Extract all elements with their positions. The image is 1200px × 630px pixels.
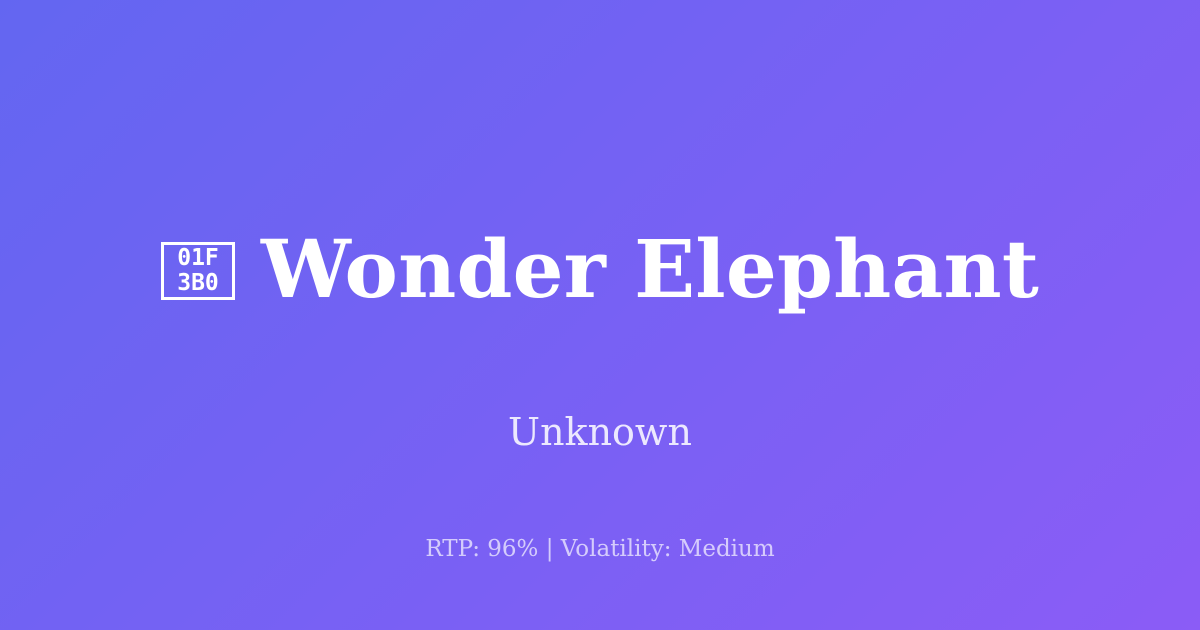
tofu-codepoint-bottom: 3B0: [177, 271, 219, 296]
slot-machine-tofu-icon: 01F 3B0: [161, 242, 235, 300]
game-stats-footer: RTP: 96% | Volatility: Medium: [0, 536, 1200, 564]
game-preview-card: 01F 3B0 Wonder Elephant Unknown RTP: 96%…: [0, 0, 1200, 630]
game-provider-subtitle: Unknown: [508, 410, 692, 456]
tofu-codepoint-top: 01F: [177, 246, 219, 271]
page-title: Wonder Elephant: [261, 228, 1039, 311]
title-row: 01F 3B0 Wonder Elephant: [121, 174, 1079, 364]
